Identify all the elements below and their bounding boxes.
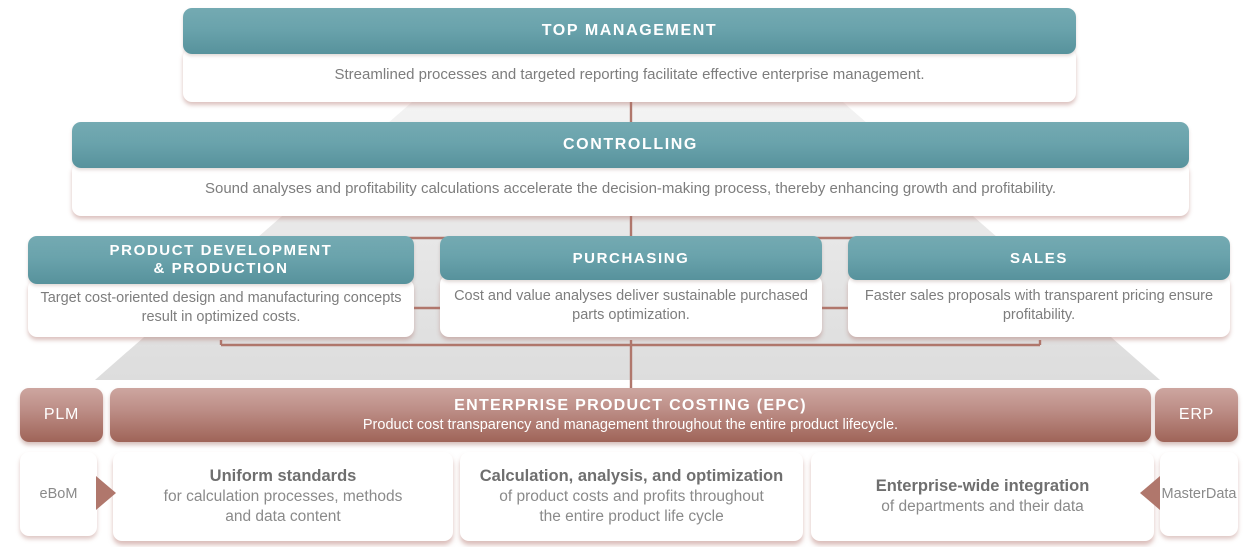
controlling-header-text: CONTROLLING <box>563 136 698 154</box>
purchasing-header-text: PURCHASING <box>573 250 690 267</box>
epc-title: ENTERPRISE PRODUCT COSTING (EPC) <box>454 396 807 416</box>
diagram-canvas: Streamlined processes and targeted repor… <box>0 0 1255 547</box>
sales-header-text: SALES <box>1010 250 1068 267</box>
purchasing-header[interactable]: PURCHASING <box>440 236 822 280</box>
master-data-endcap[interactable]: Master Data <box>1160 452 1238 536</box>
footer-box-1-sub-line2: and data content <box>225 507 341 527</box>
sales-body: Faster sales proposals with transparent … <box>848 275 1230 337</box>
sales-header[interactable]: SALES <box>848 236 1230 280</box>
footer-box-calculation-analysis[interactable]: Calculation, analysis, and optimization … <box>460 452 803 541</box>
master-data-line1: Master <box>1162 485 1206 503</box>
footer-box-1-title: Uniform standards <box>210 466 357 487</box>
footer-box-2-sub-line1: of product costs and profits throughout <box>499 487 764 507</box>
top-management-body-text: Streamlined processes and targeted repor… <box>334 65 924 85</box>
footer-box-3-sub-line1: of departments and their data <box>881 497 1084 517</box>
ebom-label: eBoM <box>40 485 78 503</box>
purchasing-body: Cost and value analyses deliver sustaina… <box>440 275 822 337</box>
plm-badge-label: PLM <box>44 406 79 424</box>
footer-box-2-title: Calculation, analysis, and optimization <box>480 466 783 487</box>
erp-badge[interactable]: ERP <box>1155 388 1238 442</box>
product-development-header[interactable]: PRODUCT DEVELOPMENT & PRODUCTION <box>28 236 414 284</box>
purchasing-body-text: Cost and value analyses deliver sustaina… <box>450 287 812 325</box>
footer-box-3-title: Enterprise-wide integration <box>876 476 1090 497</box>
erp-badge-label: ERP <box>1179 406 1214 424</box>
master-data-line2: Data <box>1206 485 1237 503</box>
top-management-header[interactable]: TOP MANAGEMENT <box>183 8 1076 54</box>
plm-badge[interactable]: PLM <box>20 388 103 442</box>
controlling-body-text: Sound analyses and profitability calcula… <box>205 179 1056 199</box>
arrow-right-icon <box>96 476 116 510</box>
footer-box-2-sub-line2: the entire product life cycle <box>539 507 723 527</box>
product-development-body-text: Target cost-oriented design and manufact… <box>38 289 404 327</box>
product-development-header-line1: PRODUCT DEVELOPMENT <box>110 242 333 260</box>
epc-bar[interactable]: ENTERPRISE PRODUCT COSTING (EPC) Product… <box>110 388 1151 442</box>
controlling-header[interactable]: CONTROLLING <box>72 122 1189 168</box>
sales-body-text: Faster sales proposals with transparent … <box>858 287 1220 325</box>
ebom-endcap[interactable]: eBoM <box>20 452 97 536</box>
epc-subtitle: Product cost transparency and management… <box>363 416 898 434</box>
footer-box-1-sub-line1: for calculation processes, methods <box>164 487 403 507</box>
top-management-body: Streamlined processes and targeted repor… <box>183 48 1076 102</box>
footer-box-uniform-standards[interactable]: Uniform standards for calculation proces… <box>113 452 453 541</box>
footer-box-enterprise-wide-integration[interactable]: Enterprise-wide integration of departmen… <box>811 452 1154 541</box>
top-management-header-text: TOP MANAGEMENT <box>542 22 718 40</box>
controlling-body: Sound analyses and profitability calcula… <box>72 162 1189 216</box>
product-development-body: Target cost-oriented design and manufact… <box>28 279 414 337</box>
product-development-header-line2: & PRODUCTION <box>153 260 288 278</box>
arrow-left-icon <box>1140 476 1160 510</box>
